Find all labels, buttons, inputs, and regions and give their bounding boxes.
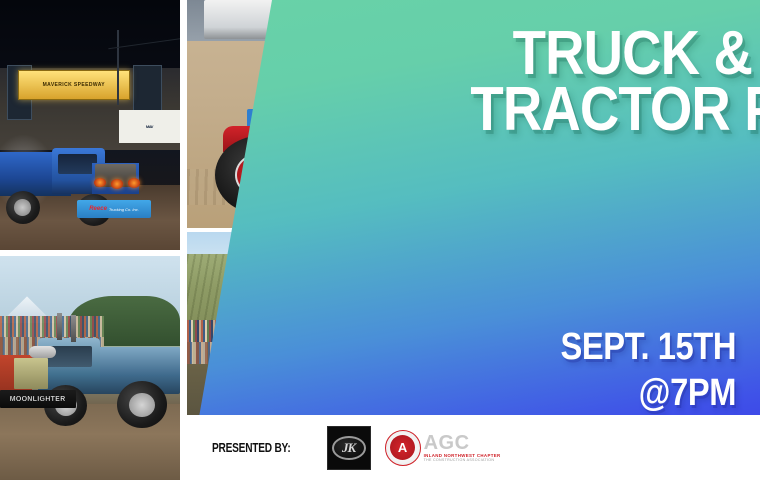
exhaust-stack-1	[57, 313, 62, 340]
sponsor-secondary-text: Trucking Co. Inc.	[109, 207, 139, 212]
moonlighter-grille	[14, 358, 47, 388]
moonlighter-truck-photo: MOONLIGHTER	[0, 256, 180, 480]
jk-oval-ring: JK	[332, 436, 366, 460]
speedway-sign: MAVERICK SPEEDWAY	[18, 70, 130, 100]
hood-scoop	[29, 346, 55, 359]
night-truck-pull-photo: MAVERICK SPEEDWAY MAV	[0, 0, 180, 250]
sponsor-bar: PRESENTED BY: JK A AGC INLAND NORTHWEST …	[187, 415, 587, 480]
jk-initials-text: JK	[342, 440, 355, 456]
agc-seal-icon: A	[385, 430, 421, 466]
agc-sponsor-logo[interactable]: A AGC INLAND NORTHWEST CHAPTER THE CONST…	[385, 430, 501, 466]
utility-pole	[117, 30, 119, 105]
agc-tagline: THE CONSTRUCTION ASSOCIATION	[424, 459, 501, 463]
moonlighter-name-text: MOONLIGHTER	[10, 396, 66, 403]
presented-by-label: PRESENTED BY:	[212, 440, 290, 455]
truck-rear-tire	[6, 191, 40, 224]
moonlighter-truck: MOONLIGHTER	[14, 337, 180, 427]
agc-seal-letter: A	[398, 441, 407, 454]
agc-seal-inner: A	[390, 435, 415, 460]
moonlighter-rear-tire	[117, 381, 167, 428]
event-poster: MAVERICK SPEEDWAY MAV	[0, 0, 760, 480]
truck-rear-rim	[14, 199, 31, 216]
blue-pulling-truck: Reece Trucking Co. Inc.	[0, 148, 151, 223]
moonlighter-bumper: MOONLIGHTER	[0, 390, 76, 408]
truck-window	[58, 154, 97, 174]
jk-sponsor-logo[interactable]: JK	[327, 426, 371, 470]
truck-sponsor-banner: Reece Trucking Co. Inc.	[77, 200, 151, 218]
mav-wall-banner: MAV	[119, 110, 180, 143]
sponsor-primary-text: Reece	[89, 206, 107, 212]
agc-wordmark: AGC INLAND NORTHWEST CHAPTER THE CONSTRU…	[424, 433, 501, 463]
headlamp-glow-2	[111, 179, 123, 189]
agc-acronym: AGC	[424, 433, 501, 453]
left-photo-column: MAVERICK SPEEDWAY MAV	[0, 0, 180, 480]
exhaust-stack-2	[71, 315, 76, 342]
moonlighter-rear-rim	[129, 393, 155, 417]
mav-banner-text: MAV	[146, 124, 153, 129]
